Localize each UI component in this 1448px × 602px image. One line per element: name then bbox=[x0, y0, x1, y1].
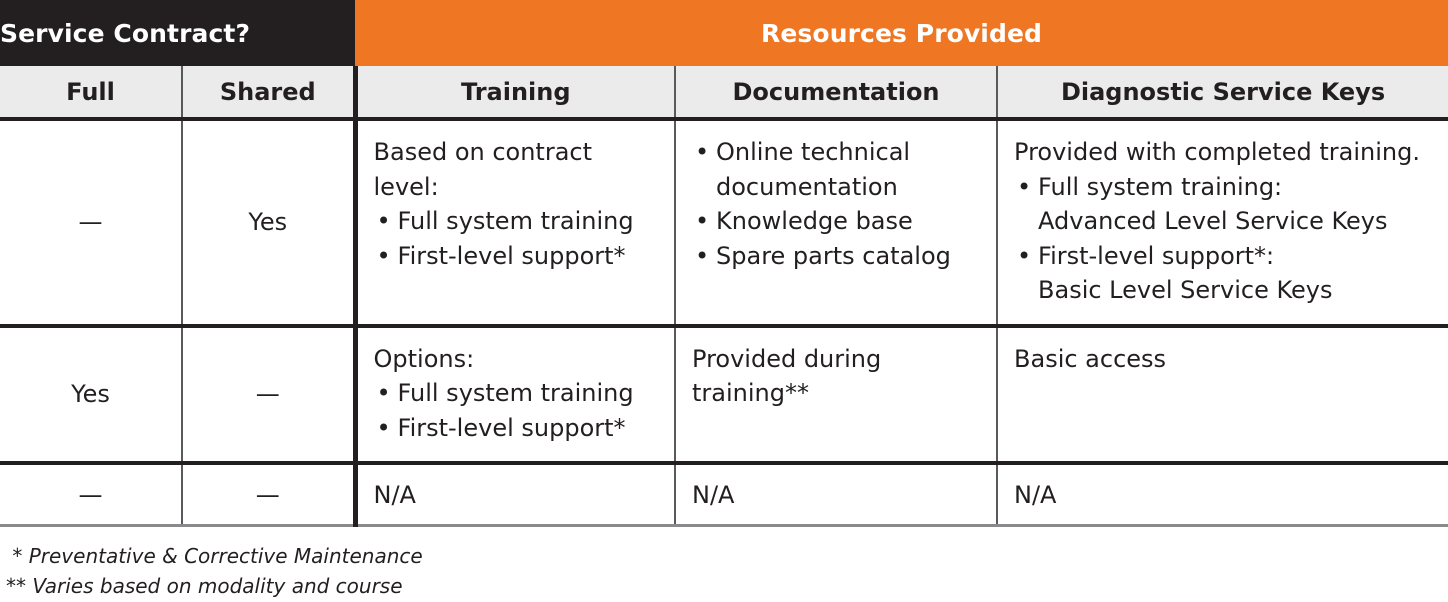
service-contract-table-container: Service Contract? Resources Provided Ful… bbox=[0, 0, 1448, 602]
list-item: Full system training bbox=[374, 204, 659, 239]
cell-lead-text: Provided with completed training. bbox=[1014, 135, 1432, 170]
cell-lead-text: Provided during training** bbox=[692, 342, 980, 411]
cell-diagnostic-service-keys: Basic access bbox=[997, 326, 1448, 464]
cell-full: — bbox=[0, 119, 182, 326]
list-item: Online technical documentation bbox=[692, 135, 980, 204]
cell-training: Based on contract level: Full system tra… bbox=[355, 119, 675, 326]
cell-training: N/A bbox=[355, 463, 675, 525]
footnote-single-asterisk: * Preventative & Corrective Maintenance bbox=[0, 541, 1448, 571]
table-body: — Yes Based on contract level: Full syst… bbox=[0, 119, 1448, 525]
footnotes: * Preventative & Corrective Maintenance … bbox=[0, 527, 1448, 602]
bullet-list: Full system training First-level support… bbox=[374, 204, 659, 273]
column-header-documentation: Documentation bbox=[675, 66, 997, 119]
cell-lead-text: Based on contract level: bbox=[374, 135, 659, 204]
cell-lead-text: Options: bbox=[374, 342, 659, 377]
cell-full: — bbox=[0, 463, 182, 525]
list-item-subtext: Basic Level Service Keys bbox=[1038, 273, 1432, 308]
list-item: Full system training: Advanced Level Ser… bbox=[1014, 170, 1432, 239]
list-item-text: Full system training bbox=[398, 207, 634, 235]
group-header-row: Service Contract? Resources Provided bbox=[0, 0, 1448, 66]
group-header-resources-provided: Resources Provided bbox=[355, 0, 1448, 66]
column-header-diagnostic-service-keys: Diagnostic Service Keys bbox=[997, 66, 1448, 119]
list-item: First-level support*: Basic Level Servic… bbox=[1014, 239, 1432, 308]
table-header: Service Contract? Resources Provided Ful… bbox=[0, 0, 1448, 119]
list-item-text: First-level support* bbox=[398, 242, 626, 270]
list-item-text: First-level support* bbox=[398, 414, 626, 442]
cell-shared: — bbox=[182, 463, 355, 525]
bullet-list: Online technical documentation Knowledge… bbox=[692, 135, 980, 273]
cell-documentation: N/A bbox=[675, 463, 997, 525]
cell-training: Options: Full system training First-leve… bbox=[355, 326, 675, 464]
bullet-list: Full system training: Advanced Level Ser… bbox=[1014, 170, 1432, 308]
table-row: — — N/A N/A N/A bbox=[0, 463, 1448, 525]
table-row: — Yes Based on contract level: Full syst… bbox=[0, 119, 1448, 326]
column-header-row: Full Shared Training Documentation Diagn… bbox=[0, 66, 1448, 119]
bullet-list: Full system training First-level support… bbox=[374, 376, 659, 445]
column-header-shared: Shared bbox=[182, 66, 355, 119]
table-row: Yes — Options: Full system training Firs… bbox=[0, 326, 1448, 464]
cell-documentation: Provided during training** bbox=[675, 326, 997, 464]
list-item: Spare parts catalog bbox=[692, 239, 980, 274]
cell-shared: — bbox=[182, 326, 355, 464]
list-item-subtext: Advanced Level Service Keys bbox=[1038, 204, 1432, 239]
service-contract-resources-table: Service Contract? Resources Provided Ful… bbox=[0, 0, 1448, 527]
list-item-text: Full system training bbox=[398, 379, 634, 407]
column-header-training: Training bbox=[355, 66, 675, 119]
list-item-text: Online technical documentation bbox=[716, 138, 910, 201]
list-item: First-level support* bbox=[374, 239, 659, 274]
list-item-text: Spare parts catalog bbox=[716, 242, 951, 270]
cell-shared: Yes bbox=[182, 119, 355, 326]
column-header-full: Full bbox=[0, 66, 182, 119]
cell-lead-text: Basic access bbox=[1014, 342, 1432, 377]
list-item: First-level support* bbox=[374, 411, 659, 446]
list-item: Knowledge base bbox=[692, 204, 980, 239]
list-item-text: First-level support*: bbox=[1038, 242, 1274, 270]
list-item-text: Full system training: bbox=[1038, 173, 1282, 201]
list-item: Full system training bbox=[374, 376, 659, 411]
cell-full: Yes bbox=[0, 326, 182, 464]
footnote-double-asterisk: ** Varies based on modality and course bbox=[0, 571, 1448, 601]
cell-diagnostic-service-keys: N/A bbox=[997, 463, 1448, 525]
cell-diagnostic-service-keys: Provided with completed training. Full s… bbox=[997, 119, 1448, 326]
list-item-text: Knowledge base bbox=[716, 207, 913, 235]
group-header-service-contract: Service Contract? bbox=[0, 0, 355, 66]
cell-documentation: Online technical documentation Knowledge… bbox=[675, 119, 997, 326]
